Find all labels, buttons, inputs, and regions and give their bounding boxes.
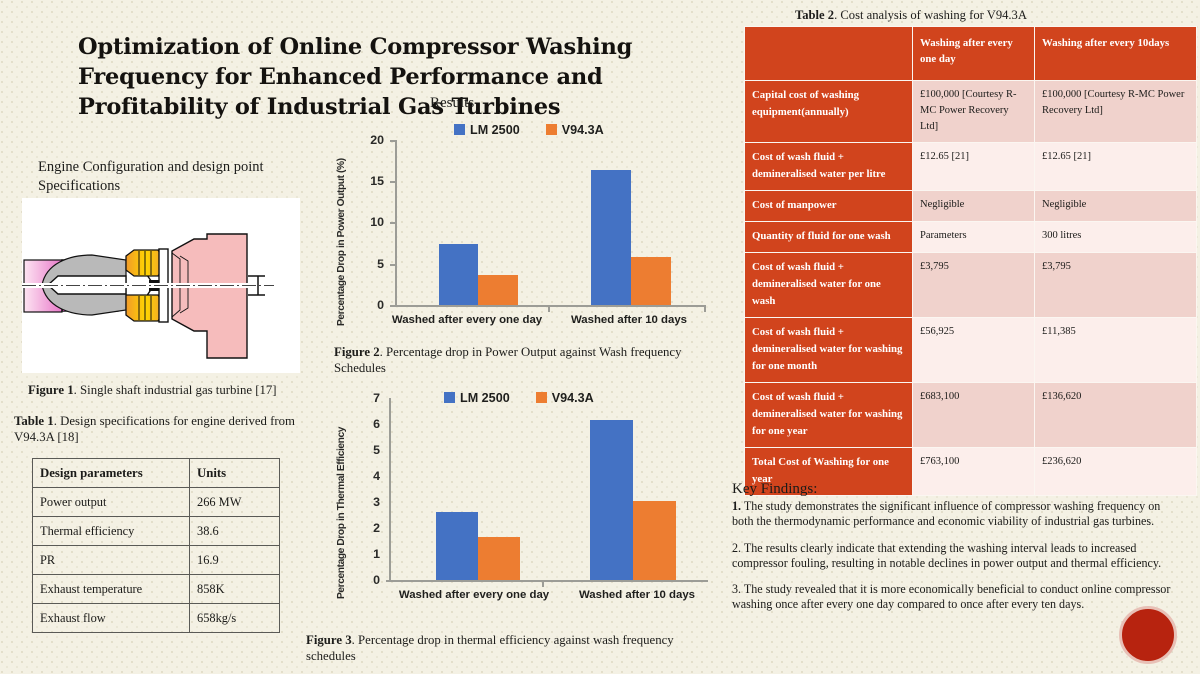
key-finding-1-text: The study demonstrates the significant i…: [732, 499, 1160, 528]
chart3-ytick-5: 5: [360, 443, 380, 457]
legend-item-lm2500: LM 2500: [454, 123, 520, 137]
legend-swatch-orange: [546, 124, 557, 135]
key-findings-title: Key Findings:: [732, 482, 1182, 497]
table2-row-label: Cost of wash fluid + demineralised water…: [745, 143, 913, 191]
chart3-bars: [389, 398, 708, 580]
chart3-bar-lm2500-tendays: [590, 420, 633, 580]
chart3-ytick-1: 1: [360, 547, 380, 561]
chart3-bar-v943a-oneday: [478, 537, 520, 580]
figure3-caption: Figure 3. Percentage drop in thermal eff…: [306, 632, 706, 664]
chart2-xlabel-oneday: Washed after every one day: [372, 314, 562, 326]
table-row: Cost of wash fluid + demineralised water…: [745, 143, 1197, 191]
table2-cell-one-day: £683,100: [913, 383, 1035, 448]
chart3-tick-mark: [542, 581, 544, 587]
chart2-ytick-5: 5: [358, 257, 384, 271]
key-finding-item-3: 3. The study revealed that it is more ec…: [732, 582, 1182, 612]
chart3-y-axis-label: Percentage Drop in Thermal Efficiency: [336, 394, 347, 599]
figure2-caption-text: . Percentage drop in Power Output agains…: [334, 345, 682, 375]
figure1-caption: Figure 1. Single shaft industrial gas tu…: [28, 382, 318, 398]
chart3-ytick-2: 2: [360, 521, 380, 535]
table1-cell-label: Exhaust temperature: [33, 575, 190, 604]
figure3-bar-chart: Percentage Drop in Thermal Efficiency LM…: [334, 388, 716, 613]
chart2-xlabel-tendays: Washed after 10 days: [554, 314, 704, 326]
chart3-ytick-0: 0: [360, 573, 380, 587]
table2-cell-one-day: £56,925: [913, 318, 1035, 383]
table1-caption: Table 1. Design specifications for engin…: [14, 413, 314, 445]
table-row: Cost of wash fluid + demineralised water…: [745, 253, 1197, 318]
table1-cell-value: 658kg/s: [190, 604, 280, 633]
chart2-bars: [395, 140, 706, 305]
table2-col-header-one-day: Washing after every one day: [913, 27, 1035, 81]
design-specifications-table: Design parameters Units Power output 266…: [32, 458, 280, 633]
legend-item-v943a: V94.3A: [546, 123, 604, 137]
table2-cell-ten-days: £100,000 [Courtesy R-MC Power Recovery L…: [1035, 81, 1197, 143]
table1-caption-label: Table 1: [14, 414, 54, 428]
table-row: PR 16.9: [33, 546, 280, 575]
figure2-bar-chart: Percentage Drop in Power Output (%) LM 2…: [334, 118, 716, 343]
legend-label-v943a: V94.3A: [562, 123, 604, 137]
table1-cell-value: 16.9: [190, 546, 280, 575]
chart2-y-axis-label: Percentage Drop in Power Output (%): [336, 126, 347, 326]
figure3-caption-label: Figure 3: [306, 633, 352, 647]
figure2-caption: Figure 2. Percentage drop in Power Outpu…: [334, 344, 714, 376]
figure2-caption-label: Figure 2: [334, 345, 380, 359]
table2-row-label: Cost of wash fluid + demineralised water…: [745, 253, 913, 318]
table2-cell-one-day: £100,000 [Courtesy R-MC Power Recovery L…: [913, 81, 1035, 143]
chart2-ytick-0: 0: [358, 298, 384, 312]
table2-row-label: Cost of wash fluid + demineralised water…: [745, 383, 913, 448]
table2-cell-one-day: Parameters: [913, 222, 1035, 253]
table1-cell-label: PR: [33, 546, 190, 575]
gas-turbine-diagram-icon: [22, 198, 300, 373]
chart2-bar-lm2500-oneday: [439, 244, 478, 305]
table2-cell-ten-days: £136,620: [1035, 383, 1197, 448]
table1-cell-value: 266 MW: [190, 488, 280, 517]
table2-cell-one-day: Negligible: [913, 191, 1035, 222]
table-row-header: Design parameters Units: [33, 459, 280, 488]
key-finding-1-number: 1.: [732, 499, 741, 513]
table2-row-label: Quantity of fluid for one wash: [745, 222, 913, 253]
table1-col-header-units: Units: [190, 459, 280, 488]
table1-col-header-parameter: Design parameters: [33, 459, 190, 488]
chart3-ytick-7: 7: [360, 391, 380, 405]
chart2-bar-v943a-tendays: [631, 257, 671, 305]
table2-head: Washing after every one day Washing afte…: [745, 27, 1197, 81]
table-row: Capital cost of washing equipment(annual…: [745, 81, 1197, 143]
chart2-bar-lm2500-tendays: [591, 170, 631, 305]
chart3-xlabel-tendays: Washed after 10 days: [562, 589, 712, 601]
chart3-ytick-4: 4: [360, 469, 380, 483]
table-row: Exhaust flow 658kg/s: [33, 604, 280, 633]
table-row: Thermal efficiency 38.6: [33, 517, 280, 546]
table1-cell-value: 858K: [190, 575, 280, 604]
engine-schematic-figure: [22, 198, 300, 373]
chart3-xlabel-oneday: Washed after every one day: [372, 589, 576, 601]
figure1-caption-text: . Single shaft industrial gas turbine [1…: [74, 383, 277, 397]
table2-cell-ten-days: £11,385: [1035, 318, 1197, 383]
table-row: Quantity of fluid for one wash Parameter…: [745, 222, 1197, 253]
table2-cell-ten-days: Negligible: [1035, 191, 1197, 222]
table-row: Power output 266 MW: [33, 488, 280, 517]
table1-cell-label: Power output: [33, 488, 190, 517]
chart2-bar-v943a-oneday: [478, 275, 518, 305]
key-findings-section: Key Findings: 1. The study demonstrates …: [732, 482, 1182, 623]
table2-col-header-ten-days: Washing after every 10days: [1035, 27, 1197, 81]
page-title: Optimization of Online Compressor Washin…: [78, 32, 698, 122]
table1-caption-text: . Design specifications for engine deriv…: [14, 414, 295, 444]
figure3-caption-text: . Percentage drop in thermal efficiency …: [306, 633, 674, 663]
chart3-ytick-3: 3: [360, 495, 380, 509]
engine-configuration-heading: Engine Configuration and design point Sp…: [38, 158, 288, 196]
table2-col-header-blank: [745, 27, 913, 81]
chart2-legend: LM 2500 V94.3A: [454, 123, 604, 137]
table2-caption-text: . Cost analysis of washing for V94.3A: [834, 8, 1027, 22]
table2-cell-one-day: £3,795: [913, 253, 1035, 318]
table2-row-label: Cost of manpower: [745, 191, 913, 222]
results-heading: Results: [430, 95, 474, 112]
chart2-ytick-10: 10: [358, 215, 384, 229]
chart2-tick-mark: [704, 306, 706, 312]
chart2-ytick-20: 20: [358, 133, 384, 147]
table-row-header: Washing after every one day Washing afte…: [745, 27, 1197, 81]
table2-cell-ten-days: 300 litres: [1035, 222, 1197, 253]
chart3-bar-v943a-tendays: [633, 501, 676, 580]
table2-cell-ten-days: £12.65 [21]: [1035, 143, 1197, 191]
legend-label-lm2500: LM 2500: [470, 123, 520, 137]
figure1-caption-label: Figure 1: [28, 383, 74, 397]
table2-cell-one-day: £12.65 [21]: [913, 143, 1035, 191]
legend-swatch-blue: [454, 124, 465, 135]
chart2-ytick-15: 15: [358, 174, 384, 188]
table-row: Exhaust temperature 858K: [33, 575, 280, 604]
chart3-ytick-6: 6: [360, 417, 380, 431]
table1-cell-value: 38.6: [190, 517, 280, 546]
table-row: Cost of manpower Negligible Negligible: [745, 191, 1197, 222]
decorative-circle-badge: [1119, 606, 1177, 664]
table1-body: Design parameters Units Power output 266…: [33, 459, 280, 633]
table-row: Cost of wash fluid + demineralised water…: [745, 383, 1197, 448]
table2-caption-label: Table 2: [795, 8, 834, 22]
chart3-bar-lm2500-oneday: [436, 512, 478, 580]
key-finding-item-2: 2. The results clearly indicate that ext…: [732, 541, 1182, 571]
table2-row-label: Capital cost of washing equipment(annual…: [745, 81, 913, 143]
table2-caption: Table 2. Cost analysis of washing for V9…: [795, 8, 1175, 23]
chart2-tick-mark: [548, 306, 550, 312]
key-finding-item-1: 1. The study demonstrates the significan…: [732, 499, 1182, 529]
table1-cell-label: Exhaust flow: [33, 604, 190, 633]
table2-row-label: Cost of wash fluid + demineralised water…: [745, 318, 913, 383]
chart3-x-axis: [386, 580, 708, 582]
table2-body: Capital cost of washing equipment(annual…: [745, 81, 1197, 496]
table-row: Cost of wash fluid + demineralised water…: [745, 318, 1197, 383]
cost-analysis-table: Washing after every one day Washing afte…: [744, 26, 1197, 496]
table1-cell-label: Thermal efficiency: [33, 517, 190, 546]
table2-cell-ten-days: £3,795: [1035, 253, 1197, 318]
